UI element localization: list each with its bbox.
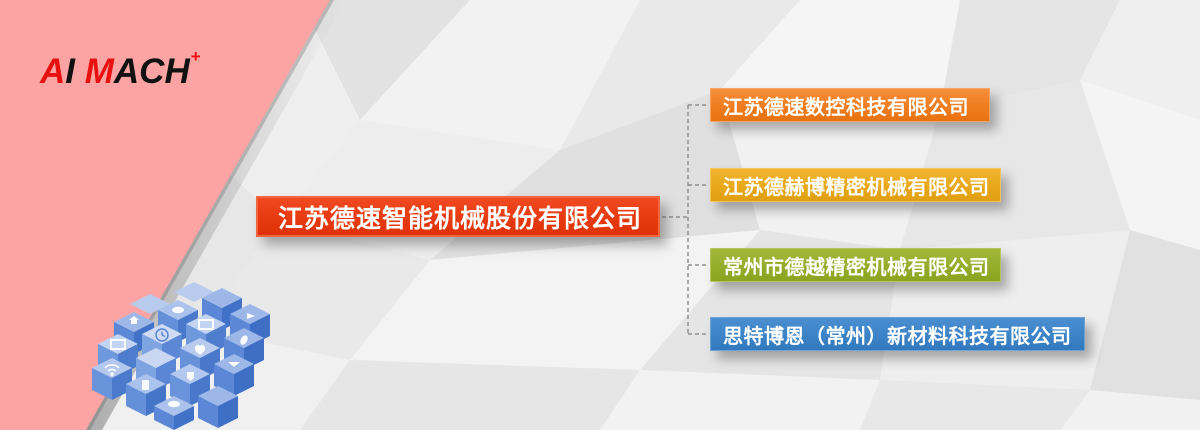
chat-icon [168, 401, 180, 407]
org-node-subsidiary-2[interactable]: 江苏德赫博精密机械有限公司 [710, 168, 1001, 202]
org-node-root-label: 江苏德速智能机械股份有限公司 [278, 199, 642, 235]
logo-plus-mark: + [191, 47, 201, 66]
org-node-subsidiary-4-label: 思特博恩（常州）新材料科技有限公司 [723, 320, 1072, 349]
logo-letter-a: A [40, 52, 65, 91]
cloud-icon [172, 307, 184, 313]
org-node-root[interactable]: 江苏德速智能机械股份有限公司 [256, 196, 660, 237]
org-node-subsidiary-2-label: 江苏德赫博精密机械有限公司 [723, 171, 990, 200]
org-node-subsidiary-3[interactable]: 常州市德越精密机械有限公司 [710, 248, 1001, 282]
logo-letters-ach: ACH [114, 52, 190, 91]
org-node-subsidiary-1[interactable]: 江苏德速数控科技有限公司 [710, 88, 990, 122]
org-node-subsidiary-4[interactable]: 思特博恩（常州）新材料科技有限公司 [710, 317, 1085, 351]
cube-cluster-icon [92, 282, 277, 430]
mobile-icon [142, 380, 149, 390]
brand-logo: AI MACH+ [40, 52, 200, 92]
logo-letter-i: I [65, 52, 75, 91]
logo-space [75, 52, 85, 91]
org-node-subsidiary-3-label: 常州市德越精密机械有限公司 [723, 251, 990, 280]
org-node-subsidiary-1-label: 江苏德速数控科技有限公司 [723, 91, 969, 120]
company-structure-banner: AI MACH+ 江苏德速智能机械股份有限公司 江苏德速数控科技有限公司 江苏德… [0, 0, 1200, 430]
logo-letter-m: M [85, 52, 114, 91]
